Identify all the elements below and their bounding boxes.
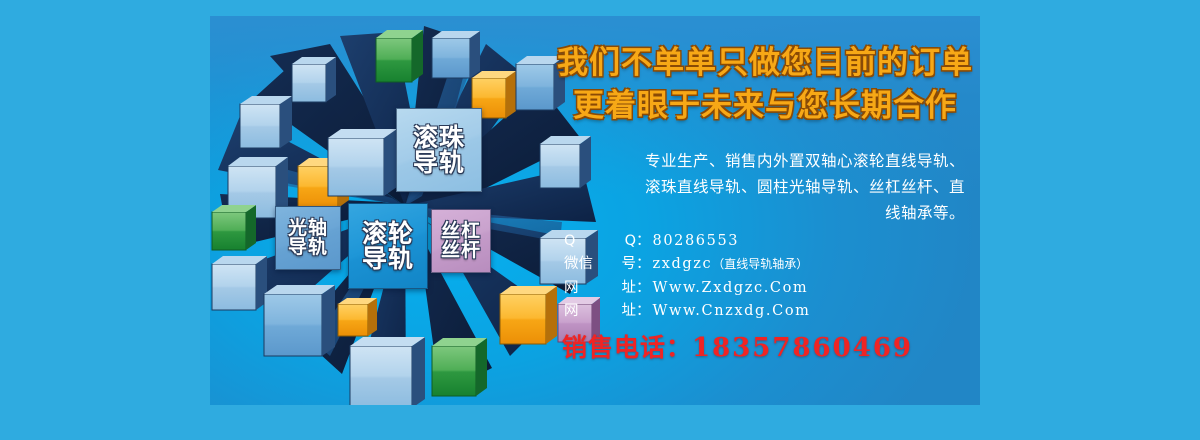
cube-label-gunzhu-line2: 导轨 <box>413 150 465 176</box>
contact-value-wechat[interactable]: zxdgzc <box>653 253 713 276</box>
contact-label-website-2-a: 网 <box>564 300 579 323</box>
contact-note-wechat: （直线导轨轴承） <box>712 255 808 274</box>
cube-label-guangzhou-line2: 导轨 <box>288 238 328 257</box>
contact-row-wechat: 微信 号 ： zxdgzc （直线导轨轴承） <box>550 253 980 276</box>
sales-phone: 销售电话：18357860469 <box>550 328 980 364</box>
contact-label-wechat-b: 号 <box>622 253 637 276</box>
contact-colon-wechat: ： <box>636 253 651 276</box>
contact-label-qq-b: Q <box>625 230 636 253</box>
description-text: 专业生产、销售内外置双轴心滚轮直线导轨、 滚珠直线导轨、圆柱光轴导轨、丝杠丝杆、… <box>570 148 965 226</box>
contact-value-website-2[interactable]: Www.Cnzxdg.Com <box>653 300 811 323</box>
headline-line-2: 更着眼于未来与您长期合作 <box>550 85 980 128</box>
contact-colon-website-1: ： <box>636 277 651 300</box>
sales-phone-number[interactable]: 18357860469 <box>692 333 913 363</box>
cube-label-sigang-sigan: 丝杠 丝杆 <box>431 209 491 273</box>
contact-value-website-1[interactable]: Www.Zxdgzc.Com <box>653 277 809 300</box>
description-line-3: 线轴承等。 <box>570 200 965 226</box>
contact-row-website-2: 网 址 ： Www.Cnzxdg.Com <box>550 300 980 323</box>
cube-label-gunlun-line1: 滚轮 <box>362 221 414 247</box>
headline: 我们不单单只做您目前的订单 更着眼于未来与您长期合作 <box>550 42 980 128</box>
cube-label-gunlun-line2: 导轨 <box>362 246 414 272</box>
contact-label-website-1-a: 网 <box>564 277 579 300</box>
cube-label-gunzhu-daogui: 滚珠 导轨 <box>396 108 482 192</box>
description-line-2: 滚珠直线导轨、圆柱光轴导轨、丝杠丝杆、直 <box>570 174 965 200</box>
contact-list: Q Q ： 80286553 微信 号 ： zxdgzc （直线导轨轴承） <box>550 230 980 324</box>
cube-label-gunlun-daogui: 滚轮 导轨 <box>348 203 428 289</box>
contact-label-website-1-b: 址 <box>622 277 637 300</box>
contact-label-qq: Q Q <box>564 230 636 253</box>
promo-banner: 滚珠 导轨 光轴 导轨 滚轮 导轨 丝杠 丝杆 我们不单单只做您目前的订单 更着… <box>210 16 980 405</box>
contact-colon-qq: ： <box>636 230 651 253</box>
sales-phone-label: 销售电话： <box>562 333 692 362</box>
banner-content-column: 我们不单单只做您目前的订单 更着眼于未来与您长期合作 专业生产、销售内外置双轴心… <box>550 16 980 405</box>
contact-label-website-1: 网 址 <box>564 277 636 300</box>
contact-value-qq[interactable]: 80286553 <box>653 230 740 253</box>
contact-label-wechat: 微信 号 <box>564 253 636 276</box>
contact-row-website-1: 网 址 ： Www.Zxdgzc.Com <box>550 277 980 300</box>
headline-line-1: 我们不单单只做您目前的订单 <box>550 42 980 85</box>
contact-colon-website-2: ： <box>636 300 651 323</box>
contact-label-qq-a: Q <box>564 230 575 253</box>
cube-label-sigang-line2: 丝杆 <box>441 241 481 260</box>
contact-label-website-2: 网 址 <box>564 300 636 323</box>
banner-page: 滚珠 导轨 光轴 导轨 滚轮 导轨 丝杠 丝杆 我们不单单只做您目前的订单 更着… <box>0 0 1200 440</box>
contact-row-qq: Q Q ： 80286553 <box>550 230 980 253</box>
contact-label-website-2-b: 址 <box>622 300 637 323</box>
cube-label-guangzhou-daogui: 光轴 导轨 <box>275 206 341 270</box>
cube-label-gunzhu-line1: 滚珠 <box>413 125 465 151</box>
description-line-1: 专业生产、销售内外置双轴心滚轮直线导轨、 <box>570 148 965 174</box>
contact-label-wechat-a: 微信 <box>564 253 593 276</box>
